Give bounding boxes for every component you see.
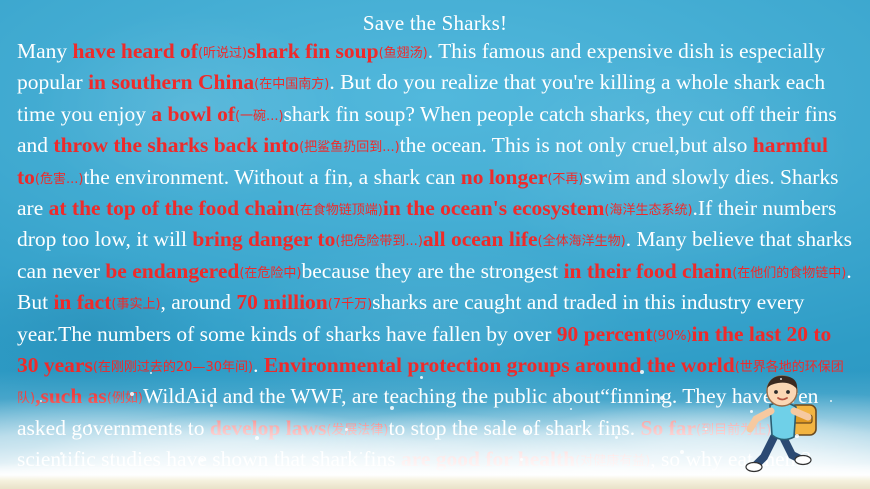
key-phrase: in the ocean's ecosystem — [383, 196, 605, 220]
chinese-gloss: (例如) — [107, 391, 143, 406]
key-phrase: ,such as — [35, 384, 107, 408]
passage-run: , around — [161, 290, 237, 314]
key-phrase: shark fin soup — [247, 39, 378, 63]
key-phrase: in southern China — [88, 70, 254, 94]
chinese-gloss: (在刚刚过去的20—30年间) — [93, 360, 253, 375]
key-phrase: all ocean life — [423, 227, 538, 251]
passage-run: the ocean. This is not only cruel,but al… — [400, 133, 753, 157]
passage-run: the environment. Without a fin, a shark … — [83, 165, 460, 189]
chinese-gloss: (鱼翅汤) — [379, 46, 428, 61]
key-phrase: at the top of the food chain — [49, 196, 295, 220]
passage-run: to stop the sale of shark fins. — [389, 416, 641, 440]
key-phrase: So far — [641, 416, 697, 440]
passage-run: Many — [17, 39, 73, 63]
key-phrase: a bowl of — [151, 102, 235, 126]
chinese-gloss: (事实上) — [111, 297, 160, 312]
chinese-gloss: (海洋生态系统) — [604, 203, 692, 218]
passage-text: Many have heard of(听说过)shark fin soup(鱼翅… — [17, 37, 857, 489]
key-phrase: in their food chain — [564, 259, 733, 283]
chinese-gloss: (把危险带到...) — [335, 234, 423, 249]
chinese-gloss: (7千万) — [328, 297, 372, 312]
key-phrase: are good for health — [401, 447, 575, 471]
chinese-gloss: (不再) — [547, 172, 583, 187]
chinese-gloss: (发展法律) — [326, 423, 388, 438]
key-phrase: Environmental protection groups around t… — [264, 353, 735, 377]
chinese-gloss: (危害...) — [35, 172, 84, 187]
chinese-gloss: (全体海洋生物) — [538, 234, 626, 249]
chinese-gloss: (听说过) — [198, 46, 247, 61]
chinese-gloss: (在危险中) — [239, 266, 301, 281]
chinese-gloss: (一碗...) — [235, 109, 284, 124]
key-phrase: in fact — [53, 290, 111, 314]
key-phrase: have heard of — [73, 39, 198, 63]
chinese-gloss: (在他们的食物链中) — [732, 266, 846, 281]
key-phrase: 70 million — [236, 290, 327, 314]
chinese-gloss: (90%) — [652, 329, 691, 344]
passage-run: . — [253, 353, 264, 377]
chinese-gloss: (对健康有益) — [575, 454, 650, 469]
chinese-gloss: (在中国南方) — [254, 77, 329, 92]
chinese-gloss: (把鲨鱼扔回到...) — [299, 140, 400, 155]
page-title: Save the Sharks! — [0, 10, 870, 36]
key-phrase: 90 percent — [557, 322, 653, 346]
key-phrase: develop laws — [210, 416, 326, 440]
chinese-gloss: (在食物链顶端) — [295, 203, 383, 218]
running-boy-icon — [740, 371, 836, 475]
key-phrase: throw the sharks back into — [53, 133, 299, 157]
slide-canvas: Save the Sharks! Many have heard of(听说过)… — [0, 0, 870, 489]
key-phrase: no longer — [461, 165, 548, 189]
passage-run: because they are the strongest — [302, 259, 564, 283]
key-phrase: be endangered — [105, 259, 239, 283]
key-phrase: bring danger to — [192, 227, 335, 251]
